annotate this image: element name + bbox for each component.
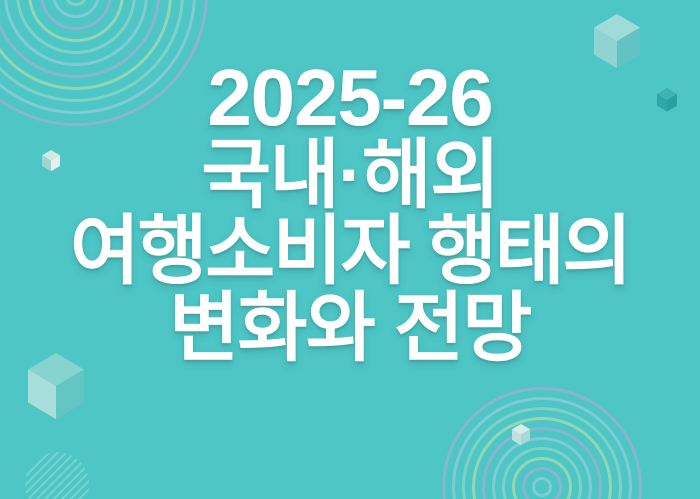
- ring: [64, 0, 88, 6]
- ring: [4, 0, 148, 66]
- ring: [502, 447, 582, 499]
- ring: [40, 0, 112, 30]
- cube-faint-bottom-right: [512, 424, 530, 445]
- ring: [452, 397, 632, 499]
- page-title: 2025-26 국내·해외 여행소비자 행태의 변화와 전망: [0, 58, 700, 366]
- title-line-subject: 여행소비자 행태의: [0, 214, 700, 289]
- cover-canvas: 2025-26 국내·해외 여행소비자 행태의 변화와 전망: [0, 0, 700, 499]
- ring: [442, 387, 642, 499]
- ring: [512, 457, 572, 499]
- concentric-rings-bottom-right: [442, 387, 642, 499]
- title-line-topic: 변화와 전망: [0, 291, 700, 366]
- ring: [482, 427, 602, 499]
- ring: [532, 477, 552, 497]
- ring: [16, 0, 136, 54]
- title-line-scope: 국내·해외: [0, 138, 700, 213]
- striped-circle-bottom-left: [25, 452, 89, 499]
- ring: [28, 0, 124, 42]
- title-line-year: 2025-26: [0, 58, 700, 137]
- ring: [472, 417, 612, 499]
- ring: [462, 407, 622, 499]
- ring: [522, 467, 562, 499]
- ring: [52, 0, 100, 18]
- ring: [492, 437, 592, 499]
